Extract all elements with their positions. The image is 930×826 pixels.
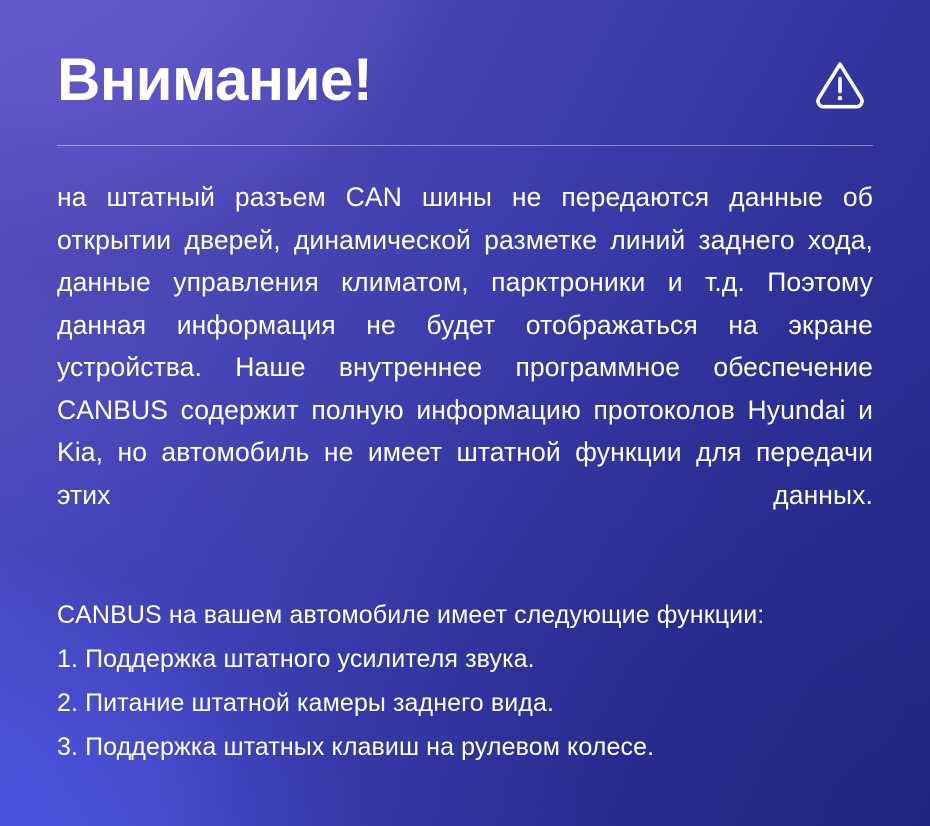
header: Внимание! (57, 0, 873, 111)
page-title: Внимание! (57, 48, 372, 111)
features-list: 1. Поддержка штатного усилителя звука. 2… (57, 637, 873, 769)
warning-triangle-icon (813, 50, 873, 110)
features-block: CANBUS на вашем автомобиле имеет следующ… (57, 559, 873, 769)
poster-content: Внимание! на штатный разъем CAN шины не … (0, 0, 930, 769)
list-item: 2. Питание штатной камеры заднего вида. (57, 681, 873, 725)
list-item: 3. Поддержка штатных клавиш на рулевом к… (57, 725, 873, 769)
body-paragraph: на штатный разъем CAN шины не передаются… (57, 146, 873, 559)
list-item: 1. Поддержка штатного усилителя звука. (57, 637, 873, 681)
warning-poster: Внимание! на штатный разъем CAN шины не … (0, 0, 930, 826)
features-intro: CANBUS на вашем автомобиле имеет следующ… (57, 593, 873, 637)
